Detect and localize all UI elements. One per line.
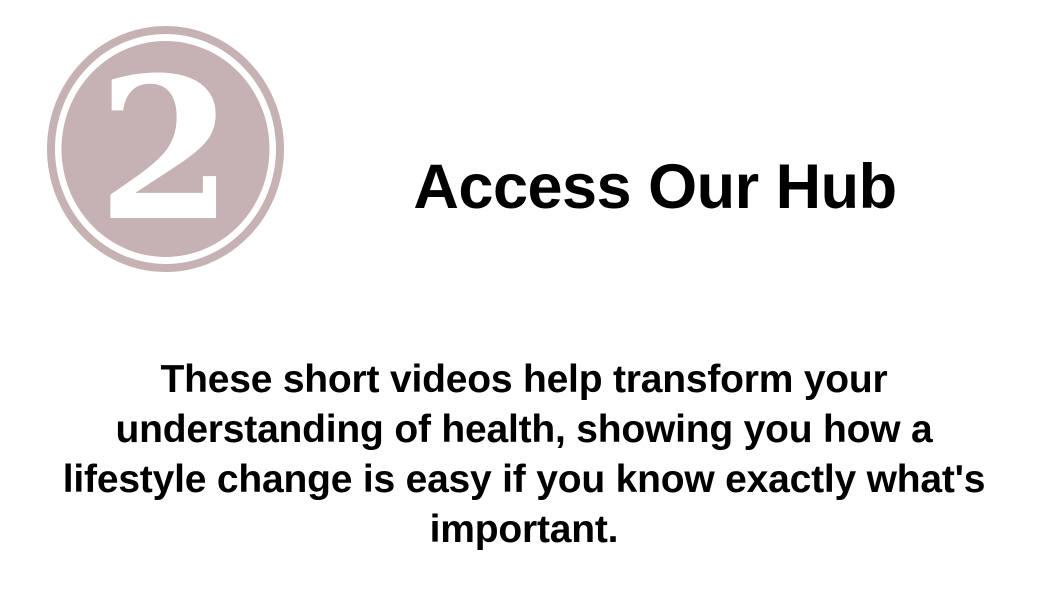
badge-numeral-text: 2: [97, 35, 233, 265]
step-number-badge-graphic: 2: [47, 26, 284, 272]
body-paragraph: These short videos help transform your u…: [44, 355, 1004, 555]
slide-canvas: 2 Access Our Hub These short videos help…: [0, 0, 1050, 600]
step-number-badge: 2: [47, 26, 284, 272]
page-title: Access Our Hub: [330, 154, 980, 220]
